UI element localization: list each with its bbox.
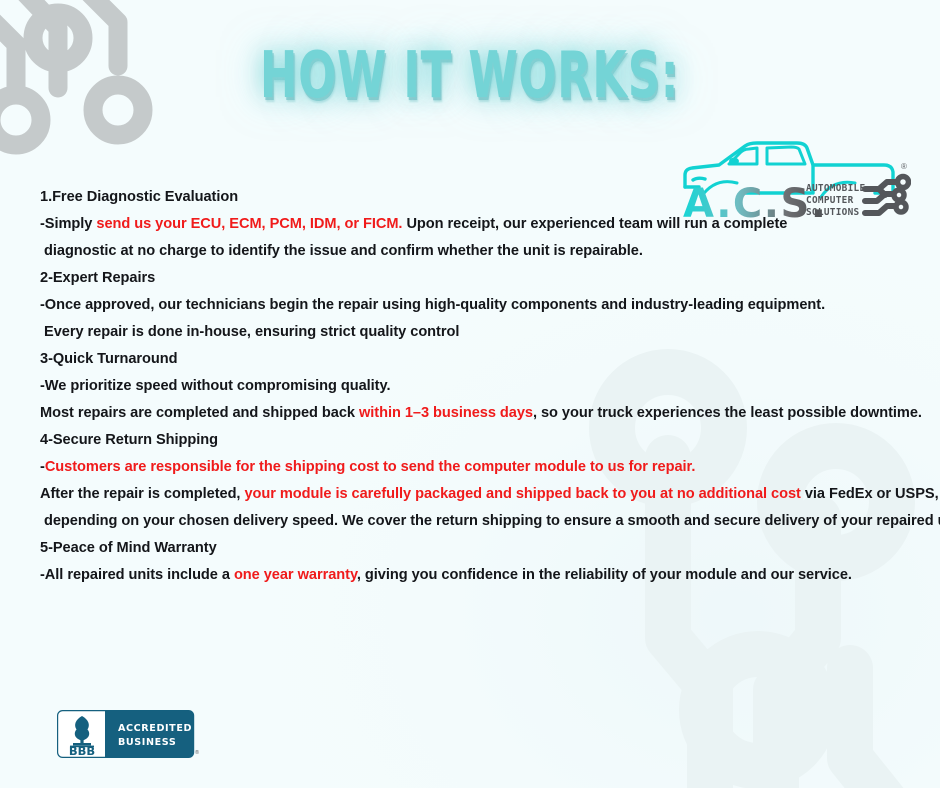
body-text: diagnostic at no charge to identify the … [40, 243, 643, 259]
body-text: Upon receipt, our experienced team will … [402, 216, 787, 232]
page-title-container: HOW IT WORKS: [0, 44, 940, 108]
body-text: Every repair is done in-house, ensuring … [40, 324, 459, 340]
step-heading: 2-Expert Repairs [40, 265, 906, 292]
bbb-business-label: BUSINESS [118, 737, 176, 748]
body-text: -Simply [40, 216, 96, 232]
highlighted-text: Customers are responsible for the shippi… [45, 459, 696, 475]
step-body-line: -Once approved, our technicians begin th… [40, 292, 906, 319]
step-body-line: After the repair is completed, your modu… [40, 481, 906, 508]
body-text: via FedEx or USPS, [801, 486, 939, 502]
body-text: depending on your chosen delivery speed.… [40, 513, 940, 529]
highlighted-text: send us your ECU, ECM, PCM, IDM, or FICM… [96, 216, 402, 232]
step-body-line: diagnostic at no charge to identify the … [40, 238, 906, 265]
registered-trademark-icon: ® [901, 162, 907, 171]
body-text: Most repairs are completed and shipped b… [40, 405, 359, 421]
highlighted-text: within 1–3 business days [359, 405, 533, 421]
step-heading: 1.Free Diagnostic Evaluation [40, 184, 906, 211]
body-text: , giving you confidence in the reliabili… [357, 567, 852, 583]
bbb-registered-trademark-icon: ® [195, 749, 199, 756]
body-text: -Once approved, our technicians begin th… [40, 297, 825, 313]
highlighted-text: your module is carefully packaged and sh… [244, 486, 800, 502]
page-title: HOW IT WORKS: [260, 44, 679, 108]
bbb-wordmark: BBB [69, 744, 95, 758]
body-text: , so your truck experiences the least po… [533, 405, 922, 421]
step-heading: 3-Quick Turnaround [40, 346, 906, 373]
how-it-works-steps: 1.Free Diagnostic Evaluation-Simply send… [40, 184, 906, 589]
bbb-accredited-business-badge[interactable]: BBB ACCREDITED BUSINESS ® [57, 710, 199, 758]
body-text: -We prioritize speed without compromisin… [40, 378, 390, 394]
step-body-line: -Simply send us your ECU, ECM, PCM, IDM,… [40, 211, 906, 238]
bbb-accredited-label: ACCREDITED [118, 723, 192, 734]
step-body-line: -We prioritize speed without compromisin… [40, 373, 906, 400]
step-body-line: Most repairs are completed and shipped b… [40, 400, 906, 427]
step-heading: 4-Secure Return Shipping [40, 427, 906, 454]
step-body-line: depending on your chosen delivery speed.… [40, 508, 906, 535]
step-body-line: -All repaired units include a one year w… [40, 562, 906, 589]
step-body-line: -Customers are responsible for the shipp… [40, 454, 906, 481]
step-heading: 5-Peace of Mind Warranty [40, 535, 906, 562]
body-text: -All repaired units include a [40, 567, 234, 583]
highlighted-text: one year warranty [234, 567, 357, 583]
step-body-line: Every repair is done in-house, ensuring … [40, 319, 906, 346]
body-text: After the repair is completed, [40, 486, 244, 502]
page-root: HOW IT WORKS: [0, 0, 940, 788]
